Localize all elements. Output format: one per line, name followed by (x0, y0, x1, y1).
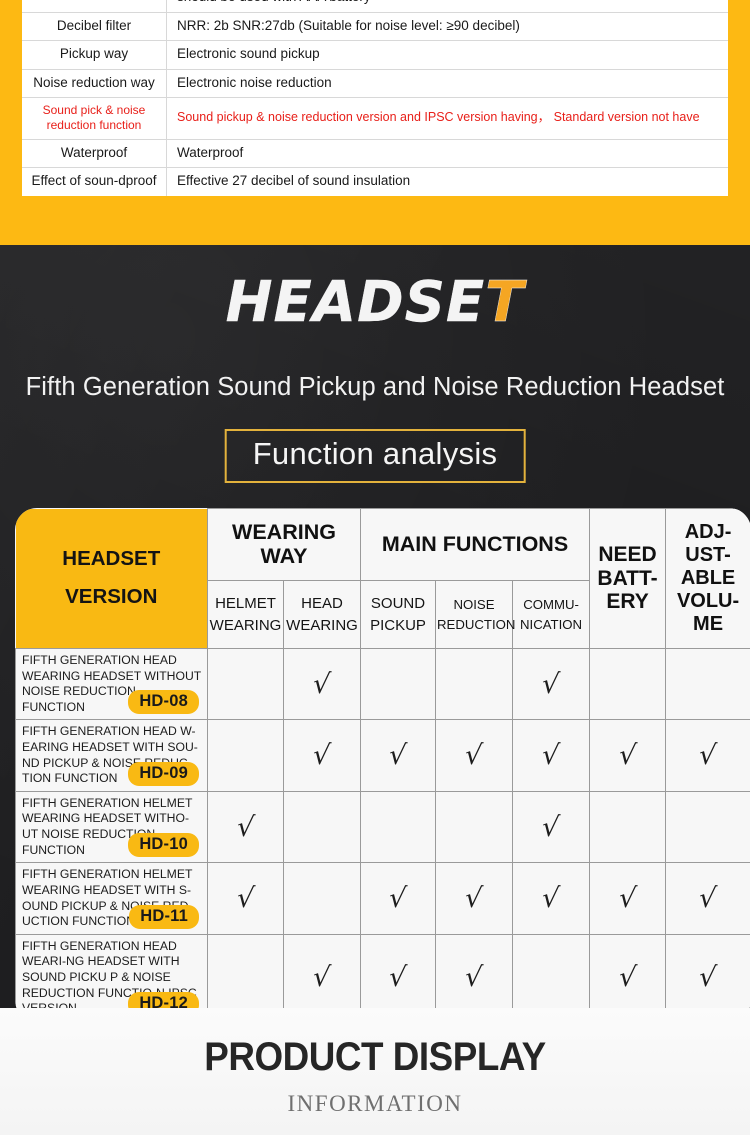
product-display-section: PRODUCT DISPLAY INFORMATION (0, 1008, 750, 1135)
spec-row: Decibel filter NRR: 2b SNR:27db (Suitabl… (22, 12, 728, 40)
spec-label: Pickup way (22, 41, 167, 69)
spec-label: Waterproof (22, 139, 167, 167)
check-icon: √ (312, 669, 332, 700)
table-row: FIFTH GENERATION HELMET WEARING HEADSET … (16, 863, 750, 934)
row-description-cell: FIFTH GENERATION HEAD WEARI-NG HEADSET W… (16, 934, 208, 1008)
sub-line2: REDUCTION (437, 615, 511, 634)
cell-adjustable-volume: √ (666, 720, 750, 791)
cell-need-battery (590, 649, 666, 720)
brush-title-accent: T (485, 270, 524, 335)
cell-helmet-wearing (208, 934, 284, 1008)
spec-value: Electronic noise reduction (167, 69, 729, 97)
spec-label: Decibel filter (22, 12, 167, 40)
check-icon: √ (617, 740, 637, 771)
cell-noise-reduction (436, 791, 513, 862)
sub-line1: SOUND (362, 593, 434, 615)
cell-head-wearing: √ (284, 720, 361, 791)
table-header-row-groups: HEADSET VERSION WEARINGWAY MAIN FUNCTION… (16, 509, 750, 581)
spec-value: The headset should be used with PTT, the… (167, 0, 729, 12)
cell-head-wearing: √ (284, 649, 361, 720)
cell-communication: √ (513, 720, 590, 791)
sub-line2: NICATION (514, 615, 588, 634)
cell-need-battery: √ (590, 720, 666, 791)
check-icon: √ (541, 669, 561, 700)
cell-need-battery (590, 791, 666, 862)
check-icon: √ (541, 812, 561, 843)
spec-value: NRR: 2b SNR:27db (Suitable for noise lev… (167, 12, 729, 40)
spec-row: Pickup way Electronic sound pickup (22, 41, 728, 69)
cell-communication: √ (513, 863, 590, 934)
header-version-line2: VERSION (16, 578, 208, 616)
header-version-line1: HEADSET (16, 540, 208, 578)
spec-label: Sound pick & noise reduction function (22, 98, 167, 139)
model-badge: HD-10 (128, 833, 199, 857)
table-row: FIFTH GENERATION HELMET WEARING HEADSET … (16, 791, 750, 862)
sub-line2: PICKUP (362, 615, 434, 637)
spec-row-highlighted: Sound pick & noise reduction function So… (22, 98, 728, 139)
header-sub-head-wearing: HEAD WEARING (284, 581, 361, 649)
function-comparison-table-wrapper: HEADSET VERSION WEARINGWAY MAIN FUNCTION… (15, 508, 750, 995)
check-icon: √ (541, 883, 561, 914)
cell-adjustable-volume (666, 791, 750, 862)
cell-noise-reduction: √ (436, 934, 513, 1008)
check-icon: √ (698, 962, 718, 993)
check-icon: √ (541, 740, 561, 771)
cell-helmet-wearing: √ (208, 791, 284, 862)
cell-adjustable-volume (666, 649, 750, 720)
spec-row: Noise reduction way Electronic noise red… (22, 69, 728, 97)
spec-row: Effect of soun-dproof Effective 27 decib… (22, 168, 728, 196)
header-adjustable-volume: ADJ-UST-ABLEVOLU-ME (666, 509, 750, 649)
check-icon: √ (464, 883, 484, 914)
check-icon: √ (388, 962, 408, 993)
header-sub-communication: COMMU- NICATION (513, 581, 590, 649)
cell-head-wearing: √ (284, 934, 361, 1008)
function-analysis-section: HEADSET Fifth Generation Sound Pickup an… (0, 245, 750, 1008)
table-row: FIFTH GENERATION HEAD WEARI-NG HEADSET W… (16, 934, 750, 1008)
check-icon: √ (388, 740, 408, 771)
model-badge: HD-12 (128, 992, 199, 1008)
cell-helmet-wearing: √ (208, 863, 284, 934)
hero-subtitle: Fifth Generation Sound Pickup and Noise … (0, 373, 750, 402)
check-icon: √ (235, 883, 255, 914)
table-row: FIFTH GENERATION HEAD WEARING HEADSET WI… (16, 649, 750, 720)
header-sub-helmet-wearing: HELMET WEARING (208, 581, 284, 649)
product-display-subtitle: INFORMATION (0, 1080, 750, 1117)
cell-need-battery: √ (590, 934, 666, 1008)
cell-sound-pickup: √ (361, 863, 436, 934)
check-icon: √ (617, 962, 637, 993)
cell-adjustable-volume: √ (666, 934, 750, 1008)
sub-line1: HELMET (209, 593, 282, 615)
spec-value: Electronic sound pickup (167, 41, 729, 69)
spec-value: Sound pickup & noise reduction version a… (167, 98, 729, 139)
check-icon: √ (312, 962, 332, 993)
row-description-cell: FIFTH GENERATION HELMET WEARING HEADSET … (16, 791, 208, 862)
header-need-battery: NEEDBATT-ERY (590, 509, 666, 649)
cell-need-battery: √ (590, 863, 666, 934)
check-icon: √ (235, 812, 255, 843)
sub-line1: NOISE (437, 595, 511, 614)
sub-line1: COMMU- (514, 595, 588, 614)
row-description-cell: FIFTH GENERATION HEAD W-EARING HEADSET W… (16, 720, 208, 791)
row-description-cell: FIFTH GENERATION HEAD WEARING HEADSET WI… (16, 649, 208, 720)
headset-brush-title: HEADSET (0, 275, 750, 331)
check-icon: √ (464, 740, 484, 771)
model-badge: HD-11 (129, 905, 199, 929)
sub-line1: HEAD (285, 593, 359, 615)
cell-noise-reduction: √ (436, 863, 513, 934)
table-row: FIFTH GENERATION HEAD W-EARING HEADSET W… (16, 720, 750, 791)
spec-value: Effective 27 decibel of sound insulation (167, 168, 729, 196)
header-sub-noise-reduction: NOISE REDUCTION (436, 581, 513, 649)
model-badge: HD-09 (128, 762, 199, 786)
specification-table: Usage note The headset should be used wi… (22, 0, 728, 196)
header-group-main-functions: MAIN FUNCTIONS (361, 509, 590, 581)
sub-line2: WEARING (209, 615, 282, 637)
cell-head-wearing (284, 863, 361, 934)
cell-noise-reduction (436, 649, 513, 720)
row-description-cell: FIFTH GENERATION HELMET WEARING HEADSET … (16, 863, 208, 934)
header-headset-version: HEADSET VERSION (16, 509, 208, 649)
cell-communication: √ (513, 649, 590, 720)
function-comparison-table: HEADSET VERSION WEARINGWAY MAIN FUNCTION… (15, 508, 750, 1008)
check-icon: √ (698, 883, 718, 914)
function-analysis-badge: Function analysis (225, 429, 526, 483)
cell-helmet-wearing (208, 720, 284, 791)
cell-communication: √ (513, 791, 590, 862)
cell-sound-pickup: √ (361, 934, 436, 1008)
header-sub-sound-pickup: SOUND PICKUP (361, 581, 436, 649)
check-icon: √ (698, 740, 718, 771)
cell-sound-pickup (361, 791, 436, 862)
cell-adjustable-volume: √ (666, 863, 750, 934)
product-detail-page: Usage note The headset should be used wi… (0, 0, 750, 1135)
check-icon: √ (464, 962, 484, 993)
spec-row: Usage note The headset should be used wi… (22, 0, 728, 12)
check-icon: √ (312, 740, 332, 771)
spec-row: Waterproof Waterproof (22, 139, 728, 167)
spec-label: Effect of soun-dproof (22, 168, 167, 196)
header-group-wearing-way: WEARINGWAY (208, 509, 361, 581)
brush-title-main: HEADSE (226, 270, 486, 335)
spec-label: Noise reduction way (22, 69, 167, 97)
check-icon: √ (388, 883, 408, 914)
model-badge: HD-08 (128, 690, 199, 714)
specification-section: Usage note The headset should be used wi… (0, 0, 750, 245)
cell-head-wearing (284, 791, 361, 862)
sub-line2: WEARING (285, 615, 359, 637)
cell-noise-reduction: √ (436, 720, 513, 791)
cell-helmet-wearing (208, 649, 284, 720)
spec-label: Usage note (22, 0, 167, 12)
product-display-title: PRODUCT DISPLAY (30, 1008, 720, 1080)
cell-communication (513, 934, 590, 1008)
check-icon: √ (617, 883, 637, 914)
cell-sound-pickup (361, 649, 436, 720)
cell-sound-pickup: √ (361, 720, 436, 791)
spec-value: Waterproof (167, 139, 729, 167)
